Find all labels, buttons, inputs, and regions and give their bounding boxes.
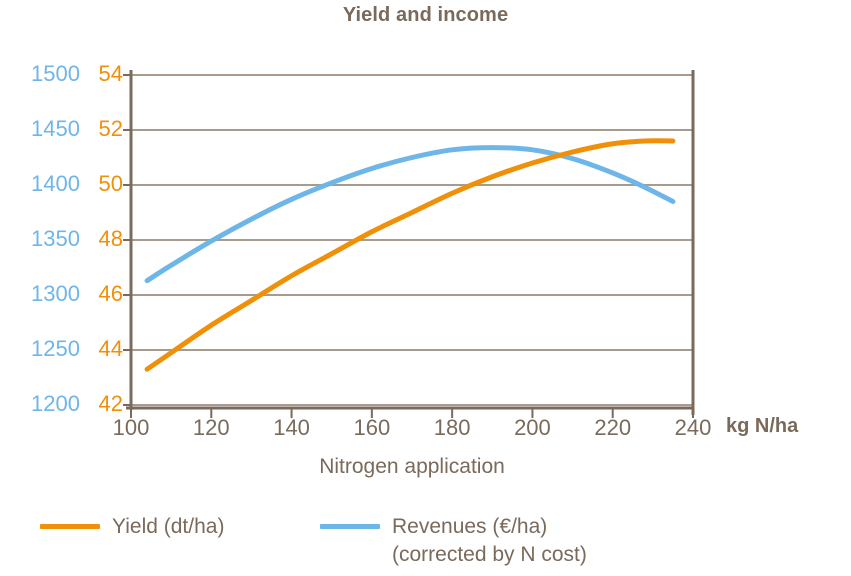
x-axis-tick-label: 200 <box>497 417 567 439</box>
x-axis-tick-label: 220 <box>578 417 648 439</box>
legend-item-yield: Yield (dt/ha) <box>40 513 224 541</box>
y-axis-left-tick-label: 1200 <box>2 393 80 415</box>
legend-swatch-revenues-icon <box>320 524 380 529</box>
x-axis-tick-label: 240 <box>658 417 728 439</box>
y-axis-left-tick-label: 1400 <box>2 173 80 195</box>
x-axis-tick-label: 100 <box>96 417 166 439</box>
x-axis-tick-label: 180 <box>417 417 487 439</box>
y-axis-left-tick-label: 1250 <box>2 338 80 360</box>
legend-item-revenues: Revenues (€/ha) (corrected by N cost) <box>320 513 587 569</box>
y-axis-right-tick-label: 46 <box>83 283 123 305</box>
y-axis-left-tick-label: 1450 <box>2 118 80 140</box>
y-axis-right-tick-label: 48 <box>83 228 123 250</box>
x-axis-title: Nitrogen application <box>131 455 693 479</box>
legend-label-yield: Yield (dt/ha) <box>112 513 224 541</box>
x-axis-tick-label: 160 <box>337 417 407 439</box>
y-axis-right-tick-label: 50 <box>83 173 123 195</box>
x-axis-tick-label: 120 <box>176 417 246 439</box>
x-axis-tick-label: 140 <box>257 417 327 439</box>
y-axis-right-tick-label: 44 <box>83 338 123 360</box>
y-axis-right-tick-label: 54 <box>83 63 123 85</box>
y-axis-left-tick-label: 1350 <box>2 228 80 250</box>
y-axis-left-tick-label: 1500 <box>2 63 80 85</box>
chart-legend: Yield (dt/ha) Revenues (€/ha) (corrected… <box>0 505 851 575</box>
series-line-yield <box>147 141 673 369</box>
y-axis-right-tick-label: 52 <box>83 118 123 140</box>
x-axis-unit-label: kg N/ha <box>726 415 798 438</box>
legend-label-revenues: Revenues (€/ha) (corrected by N cost) <box>392 513 587 569</box>
chart-container: Yield and income 15001450140013501300125… <box>0 0 851 576</box>
y-axis-right-tick-label: 42 <box>83 393 123 415</box>
legend-swatch-yield-icon <box>40 524 100 529</box>
y-axis-left-tick-label: 1300 <box>2 283 80 305</box>
plot-area <box>0 0 851 576</box>
